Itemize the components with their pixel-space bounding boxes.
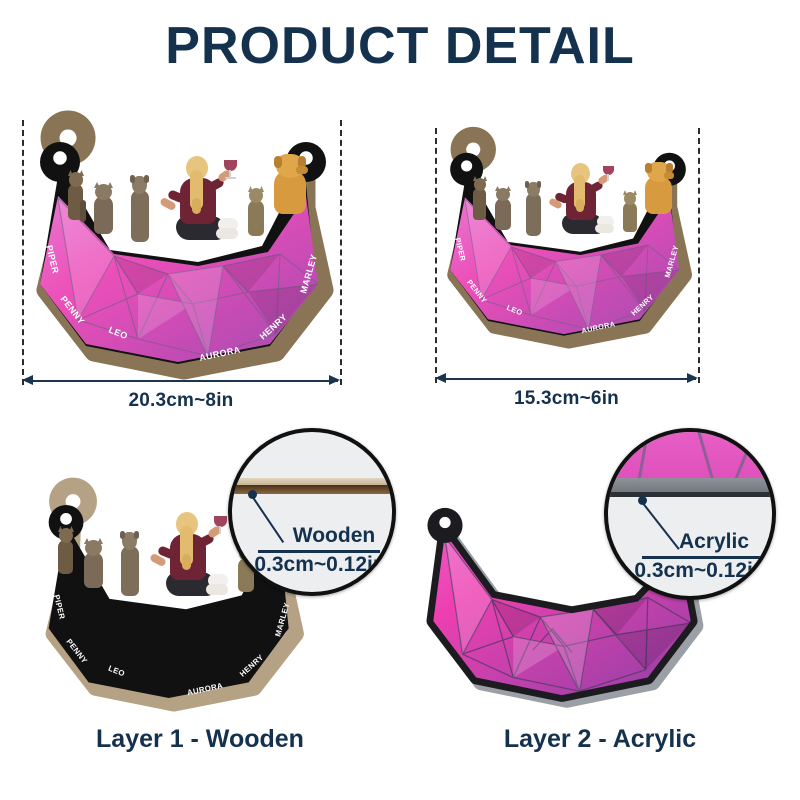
- pet-figure-1: [470, 176, 490, 220]
- callout-acrylic: Acrylic 0.3cm~0.12in: [604, 428, 776, 600]
- person-figure: [156, 508, 238, 608]
- pet-figure-2: [492, 186, 516, 230]
- pet-figure-1: [64, 170, 88, 222]
- ornament-small: PIPER PENNY LEO AURORA HENRY MARLEY: [432, 146, 704, 336]
- pet-figure-4: [620, 190, 640, 232]
- callout-thickness-label: 0.3cm~0.12in: [232, 553, 396, 577]
- layer-2-caption: Layer 2 - Acrylic: [400, 725, 800, 754]
- pet-figure-5-golden-dog: [268, 152, 312, 214]
- dimension-label-large: 20.3cm~8in: [22, 390, 340, 412]
- artwork-scene-small: [432, 146, 704, 336]
- dimension-line: [26, 380, 338, 382]
- ornament-large: PIPER PENNY LEO AURORA HENRY MARLEY: [18, 134, 348, 364]
- pet-figure-2: [80, 538, 108, 588]
- dimension-line: [439, 378, 696, 380]
- layer-2-acrylic: Acrylic 0.3cm~0.12in Layer 2 - Acrylic: [400, 490, 800, 790]
- dimension-arrow-left: [435, 373, 446, 383]
- pet-figure-3: [116, 530, 144, 596]
- pet-figure-3: [126, 174, 154, 242]
- acrylic-edge-shadow: [604, 492, 776, 497]
- dimension-label-small: 15.3cm~6in: [435, 388, 698, 410]
- pet-figure-5-golden-dog: [640, 160, 678, 214]
- pet-figure-3: [522, 180, 546, 236]
- size-variant-small: 15.3cm~6in: [410, 128, 790, 428]
- artwork-scene-large: [18, 134, 348, 364]
- page-title: PRODUCT DETAIL: [0, 16, 800, 76]
- person-figure: [554, 160, 624, 244]
- person-figure: [166, 152, 248, 252]
- callout-material-label: Acrylic: [608, 530, 776, 554]
- callout-wooden: Wooden 0.3cm~0.12in: [228, 428, 396, 596]
- layer-1-wooden: PIPER PENNY LEO AURORA HENRY MARLEY: [0, 490, 400, 790]
- callout-material-label: Wooden: [232, 524, 396, 548]
- pet-figure-1: [54, 526, 78, 576]
- pet-figure-2: [90, 182, 118, 234]
- dimension-arrow-right: [329, 375, 340, 385]
- layer-1-caption: Layer 1 - Wooden: [0, 725, 400, 754]
- dimension-arrow-left: [22, 375, 33, 385]
- pet-figure-4: [244, 186, 268, 236]
- dimension-arrow-right: [687, 373, 698, 383]
- callout-thickness-label: 0.3cm~0.12in: [608, 559, 776, 583]
- size-variant-large: 20.3cm~8in: [0, 120, 380, 420]
- wood-top-highlight: [228, 478, 396, 485]
